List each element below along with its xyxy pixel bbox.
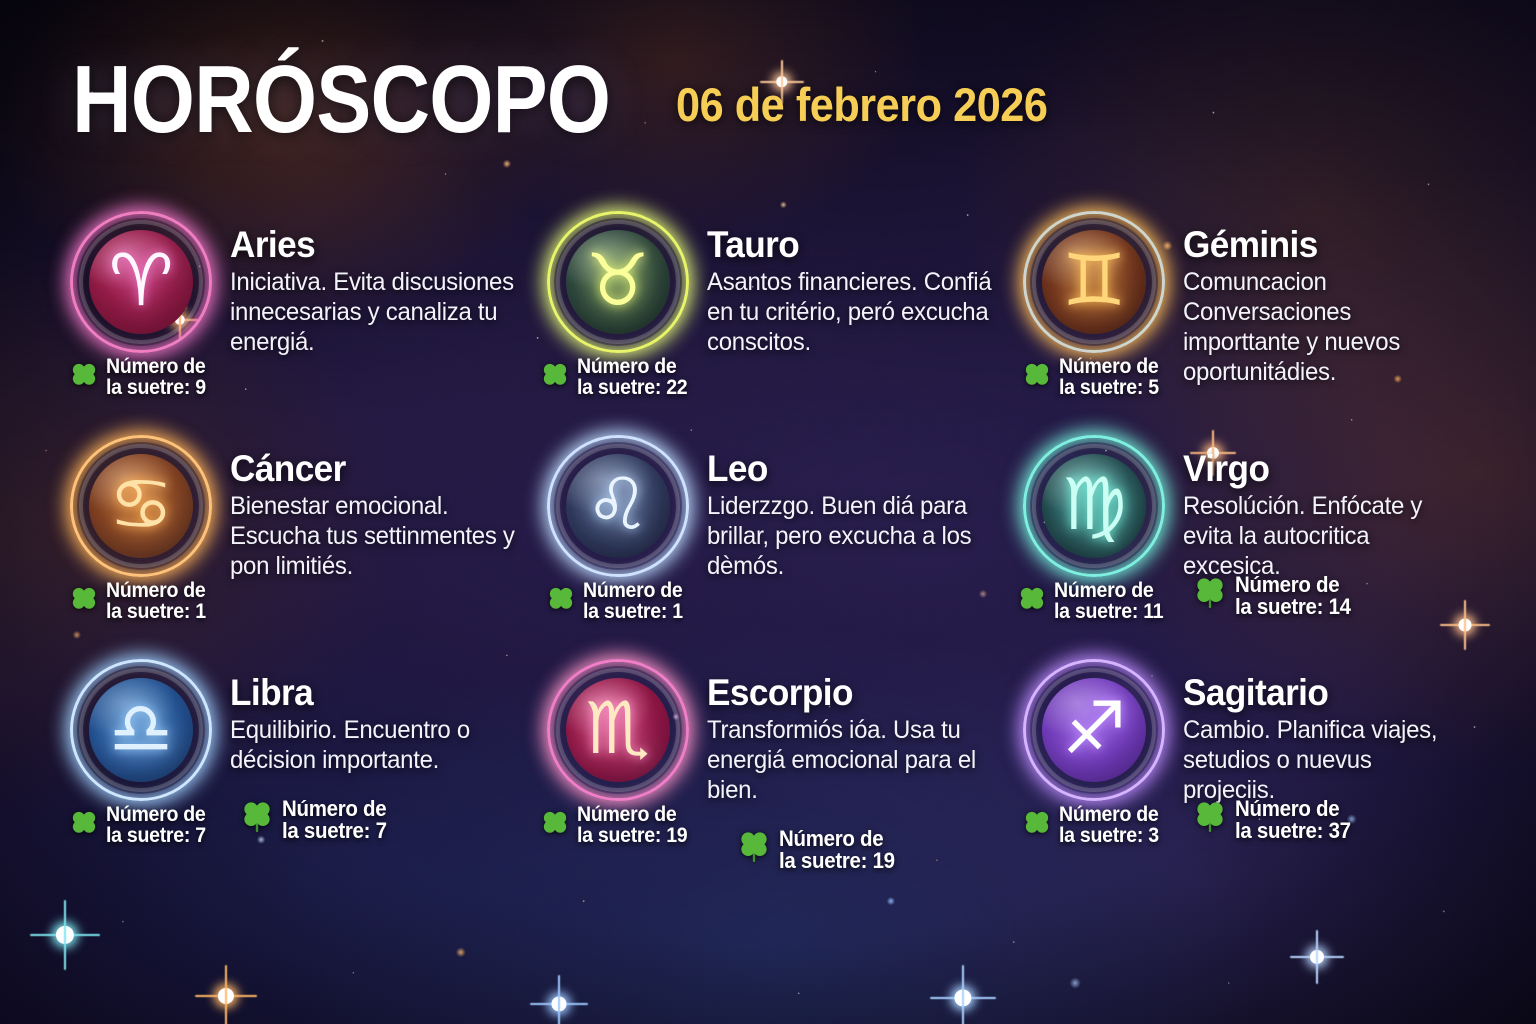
lucky-number-text: Número de la suetre: 1	[583, 580, 683, 623]
sign-description: Comuncacion Conversaciones importtante y…	[1183, 267, 1468, 387]
medallion-column: ♉ Número de la suetre: 22	[539, 214, 697, 399]
medallion-column: ♊ Número de la suetre: 5	[1015, 214, 1173, 399]
four-leaf-clover-icon	[1017, 584, 1047, 619]
lucky-number-badge: Número de la suetre: 1	[69, 580, 213, 623]
poster-header: HORÓSCOPO 06 de febrero 2026	[0, 54, 1536, 146]
taurus-bull-icon: ♉	[585, 244, 650, 316]
sign-body: Géminis Comuncacion Conversaciones impor…	[1183, 214, 1480, 387]
sparkle-star	[195, 965, 257, 1024]
medallion-column: ♈ Número de la suetre: 9	[62, 214, 220, 399]
zodiac-medallion-cncer[interactable]: ♋	[77, 442, 205, 570]
sign-name: Escorpio	[707, 674, 989, 712]
lucky-number-text-secondary: Número de la suetre: 14	[1235, 574, 1351, 619]
lucky-number-badge-secondary: Número de la suetre: 14	[1193, 574, 1360, 619]
medallion-column: ♋ Número de la suetre: 1	[62, 438, 220, 623]
zodiac-medallion-gminis[interactable]: ♊	[1030, 218, 1158, 346]
lucky-number-text: Número de la suetre: 3	[1059, 804, 1159, 847]
lucky-number-text: Número de la suetre: 1	[106, 580, 206, 623]
zodiac-card-libra[interactable]: ♎ Número de la suetre: 7 Libra Equilibir…	[62, 662, 527, 886]
medallion-column: ♍ Número de la suetre: 11	[1015, 438, 1173, 623]
sparkle-star	[930, 965, 996, 1024]
sparkle-star	[530, 975, 588, 1024]
horoscope-poster: HORÓSCOPO 06 de febrero 2026 ♈ Número de…	[0, 0, 1536, 1024]
sign-body: Virgo Resolúción. Enfócate y evita la au…	[1183, 438, 1480, 581]
poster-date: 06 de febrero 2026	[676, 77, 1047, 132]
four-leaf-clover-icon	[546, 584, 576, 619]
libra-scales-icon: ♎	[109, 692, 174, 764]
sign-description: Asantos financieres. Confiá en tu critér…	[707, 267, 992, 357]
sparkle-star	[1290, 930, 1344, 984]
sign-name: Cáncer	[230, 450, 512, 488]
zodiac-card-virgo[interactable]: ♍ Número de la suetre: 11 Virgo Resolúci…	[1015, 438, 1480, 662]
leo-lion-icon: ♌	[585, 468, 650, 540]
zodiac-card-tauro[interactable]: ♉ Número de la suetre: 22 Tauro Asantos …	[539, 214, 1004, 438]
sign-body: Libra Equilibirio. Encuentro o décision …	[230, 662, 527, 775]
sign-description: Iniciativa. Evita discusiones innecesari…	[230, 267, 515, 357]
lucky-number-text-secondary: Número de la suetre: 7	[282, 798, 387, 843]
zodiac-medallion-leo[interactable]: ♌	[554, 442, 682, 570]
lucky-number-text-secondary: Número de la suetre: 37	[1235, 798, 1351, 843]
four-leaf-clover-icon	[737, 828, 771, 867]
cancer-crab-icon: ♋	[109, 468, 174, 540]
zodiac-medallion-tauro[interactable]: ♉	[554, 218, 682, 346]
sign-name: Virgo	[1183, 450, 1465, 488]
sign-description: Cambio. Planifica viajes, setudios o nue…	[1183, 715, 1468, 805]
four-leaf-clover-icon	[69, 360, 99, 395]
lucky-number-text: Número de la suetre: 5	[1059, 356, 1159, 399]
zodiac-card-leo[interactable]: ♌ Número de la suetre: 1 Leo Liderzzgo. …	[539, 438, 1004, 662]
sign-body: Cáncer Bienestar emocional. Escucha tus …	[230, 438, 527, 581]
lucky-number-badge: Número de la suetre: 3	[1022, 804, 1166, 847]
lucky-number-text: Número de la suetre: 11	[1054, 580, 1163, 623]
sign-name: Sagitario	[1183, 674, 1465, 712]
sign-body: Leo Liderzzgo. Buen diá para brillar, pe…	[707, 438, 1004, 581]
four-leaf-clover-icon	[1193, 798, 1227, 837]
four-leaf-clover-icon	[1022, 360, 1052, 395]
lucky-number-badge: Número de la suetre: 22	[540, 356, 696, 399]
four-leaf-clover-icon	[540, 360, 570, 395]
four-leaf-clover-icon	[69, 808, 99, 843]
lucky-number-badge: Número de la suetre: 9	[69, 356, 213, 399]
medallion-column: ♏ Número de la suetre: 19	[539, 662, 697, 847]
lucky-number-badge: Número de la suetre: 5	[1022, 356, 1166, 399]
sign-name: Géminis	[1183, 226, 1465, 264]
zodiac-grid: ♈ Número de la suetre: 9 Aries Iniciativ…	[0, 214, 1536, 886]
lucky-number-text: Número de la suetre: 9	[106, 356, 206, 399]
lucky-number-badge-secondary: Número de la suetre: 19	[737, 828, 904, 873]
four-leaf-clover-icon	[69, 584, 99, 619]
lucky-number-text: Número de la suetre: 7	[106, 804, 206, 847]
virgo-maiden-icon: ♍	[1062, 468, 1127, 540]
sparkle-star	[30, 900, 100, 970]
medallion-column: ♐ Número de la suetre: 3	[1015, 662, 1173, 847]
sign-body: Tauro Asantos financieres. Confiá en tu …	[707, 214, 1004, 357]
sign-body: Escorpio Transformiós ióа. Usa tu energi…	[707, 662, 1004, 805]
zodiac-medallion-virgo[interactable]: ♍	[1030, 442, 1158, 570]
zodiac-card-sagitario[interactable]: ♐ Número de la suetre: 3 Sagitario Cambi…	[1015, 662, 1480, 886]
gemini-twins-icon: ♊	[1062, 244, 1127, 316]
aries-ram-icon: ♈	[109, 244, 174, 316]
sagittarius-archer-icon: ♐	[1062, 692, 1127, 764]
lucky-number-text: Número de la suetre: 19	[577, 804, 687, 847]
four-leaf-clover-icon	[540, 808, 570, 843]
zodiac-medallion-libra[interactable]: ♎	[77, 666, 205, 794]
zodiac-card-aries[interactable]: ♈ Número de la suetre: 9 Aries Iniciativ…	[62, 214, 527, 438]
lucky-number-badge-secondary: Número de la suetre: 7	[240, 798, 395, 843]
sign-body: Sagitario Cambio. Planifica viajes, setu…	[1183, 662, 1480, 805]
sign-name: Aries	[230, 226, 512, 264]
zodiac-card-escorpio[interactable]: ♏ Número de la suetre: 19 Escorpio Trans…	[539, 662, 1004, 886]
lucky-number-badge: Número de la suetre: 7	[69, 804, 213, 847]
four-leaf-clover-icon	[240, 798, 274, 837]
lucky-number-badge: Número de la suetre: 11	[1017, 580, 1172, 623]
four-leaf-clover-icon	[1022, 808, 1052, 843]
four-leaf-clover-icon	[1193, 574, 1227, 613]
lucky-number-badge: Número de la suetre: 19	[540, 804, 696, 847]
zodiac-card-gminis[interactable]: ♊ Número de la suetre: 5 Géminis Comunca…	[1015, 214, 1480, 438]
scorpio-scorpion-icon: ♏	[585, 692, 650, 764]
sign-description: Resolúción. Enfócate y evita la autocrit…	[1183, 491, 1468, 581]
sign-name: Libra	[230, 674, 512, 712]
lucky-number-badge: Número de la suetre: 1	[546, 580, 690, 623]
medallion-column: ♎ Número de la suetre: 7	[62, 662, 220, 847]
zodiac-medallion-sagitario[interactable]: ♐	[1030, 666, 1158, 794]
sign-description: Transformiós ióа. Usa tu energiá emocion…	[707, 715, 992, 805]
lucky-number-badge-secondary: Número de la suetre: 37	[1193, 798, 1360, 843]
sign-name: Tauro	[707, 226, 989, 264]
sign-description: Bienestar emocional. Escucha tus settinm…	[230, 491, 515, 581]
sign-description: Liderzzgo. Buen diá para brillar, pero e…	[707, 491, 992, 581]
lucky-number-text: Número de la suetre: 22	[577, 356, 687, 399]
page-title: HORÓSCOPO	[72, 54, 610, 146]
sign-description: Equilibirio. Encuentro o décision import…	[230, 715, 515, 775]
lucky-number-text-secondary: Número de la suetre: 19	[779, 828, 895, 873]
sign-name: Leo	[707, 450, 989, 488]
sign-body: Aries Iniciativa. Evita discusiones inne…	[230, 214, 527, 357]
zodiac-medallion-aries[interactable]: ♈	[77, 218, 205, 346]
zodiac-card-cncer[interactable]: ♋ Número de la suetre: 1 Cáncer Bienesta…	[62, 438, 527, 662]
medallion-column: ♌ Número de la suetre: 1	[539, 438, 697, 623]
zodiac-medallion-escorpio[interactable]: ♏	[554, 666, 682, 794]
